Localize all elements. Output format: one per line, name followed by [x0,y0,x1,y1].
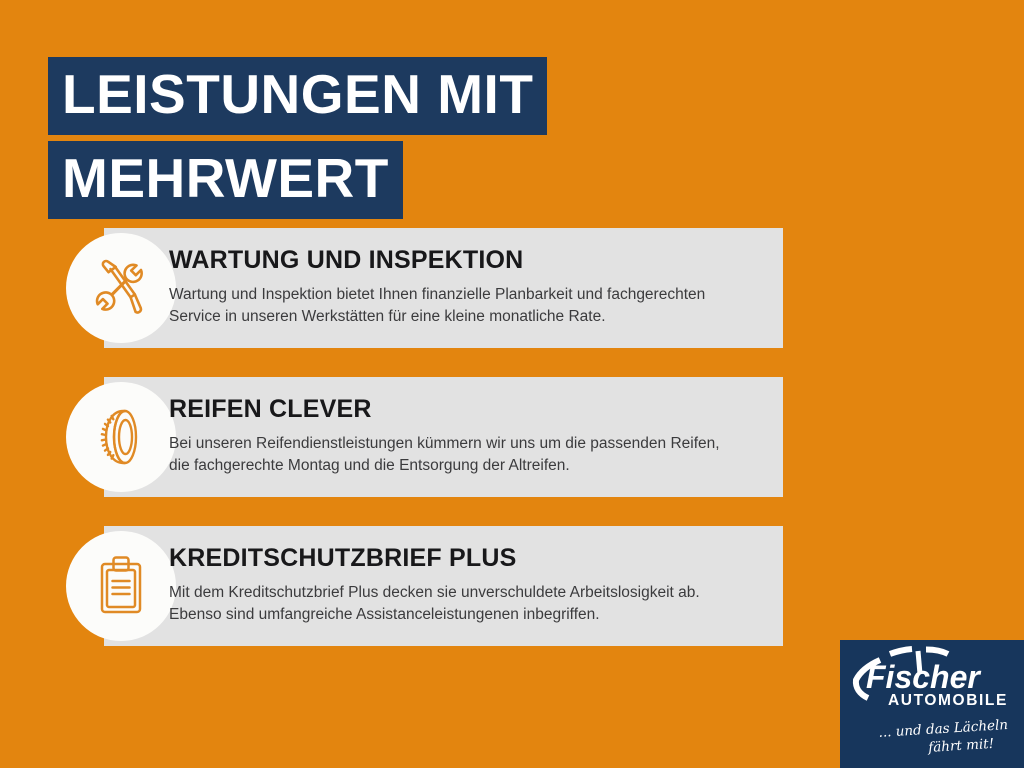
card-description: Mit dem Kreditschutzbrief Plus decken si… [169,582,769,627]
service-card[interactable]: KREDITSCHUTZBRIEF PLUS Mit dem Kreditsch… [0,526,1024,646]
card-description-line-2: Ebenso sind umfangreiche Assistanceleist… [169,604,769,626]
logo-tagline: ... und das Lächeln fährt mit! [840,716,1024,752]
card-heading: REIFEN CLEVER [169,396,769,424]
card-description-line-1: Mit dem Kreditschutzbrief Plus decken si… [169,582,769,604]
service-card[interactable]: WARTUNG UND INSPEKTION Wartung und Inspe… [0,228,1024,348]
card-content: WARTUNG UND INSPEKTION Wartung und Inspe… [169,228,769,348]
card-description-line-2: die fachgerechte Montag und die Entsorgu… [169,455,769,477]
card-content: KREDITSCHUTZBRIEF PLUS Mit dem Kreditsch… [169,526,769,646]
card-description-line-1: Wartung und Inspektion bietet Ihnen fina… [169,284,769,306]
card-heading: KREDITSCHUTZBRIEF PLUS [169,545,769,573]
card-content: REIFEN CLEVER Bei unseren Reifendienstle… [169,377,769,497]
service-card-list: WARTUNG UND INSPEKTION Wartung und Inspe… [0,228,1024,675]
fischer-automobile-logo-mark: Fischer AUTOMOBILE [840,640,1024,720]
card-heading: WARTUNG UND INSPEKTION [169,247,769,275]
card-description: Bei unseren Reifendienstleistungen kümme… [169,433,769,478]
page-title-line-2: MEHRWERT [48,141,403,219]
page-title-line-1: LEISTUNGEN MIT [48,57,547,135]
logo-subbrand-text: AUTOMOBILE [888,692,1008,709]
card-description-line-1: Bei unseren Reifendienstleistungen kümme… [169,433,769,455]
card-description-line-2: Service in unseren Werkstätten für eine … [169,306,769,328]
clipboard-icon [66,531,176,641]
page-title: LEISTUNGEN MIT MEHRWERT [48,57,547,219]
company-logo[interactable]: Fischer AUTOMOBILE ... und das Lächeln f… [840,640,1024,768]
logo-brand-text: Fischer [866,659,981,695]
service-card[interactable]: REIFEN CLEVER Bei unseren Reifendienstle… [0,377,1024,497]
tire-icon [66,382,176,492]
wrench-screwdriver-icon [66,233,176,343]
card-description: Wartung und Inspektion bietet Ihnen fina… [169,284,769,329]
